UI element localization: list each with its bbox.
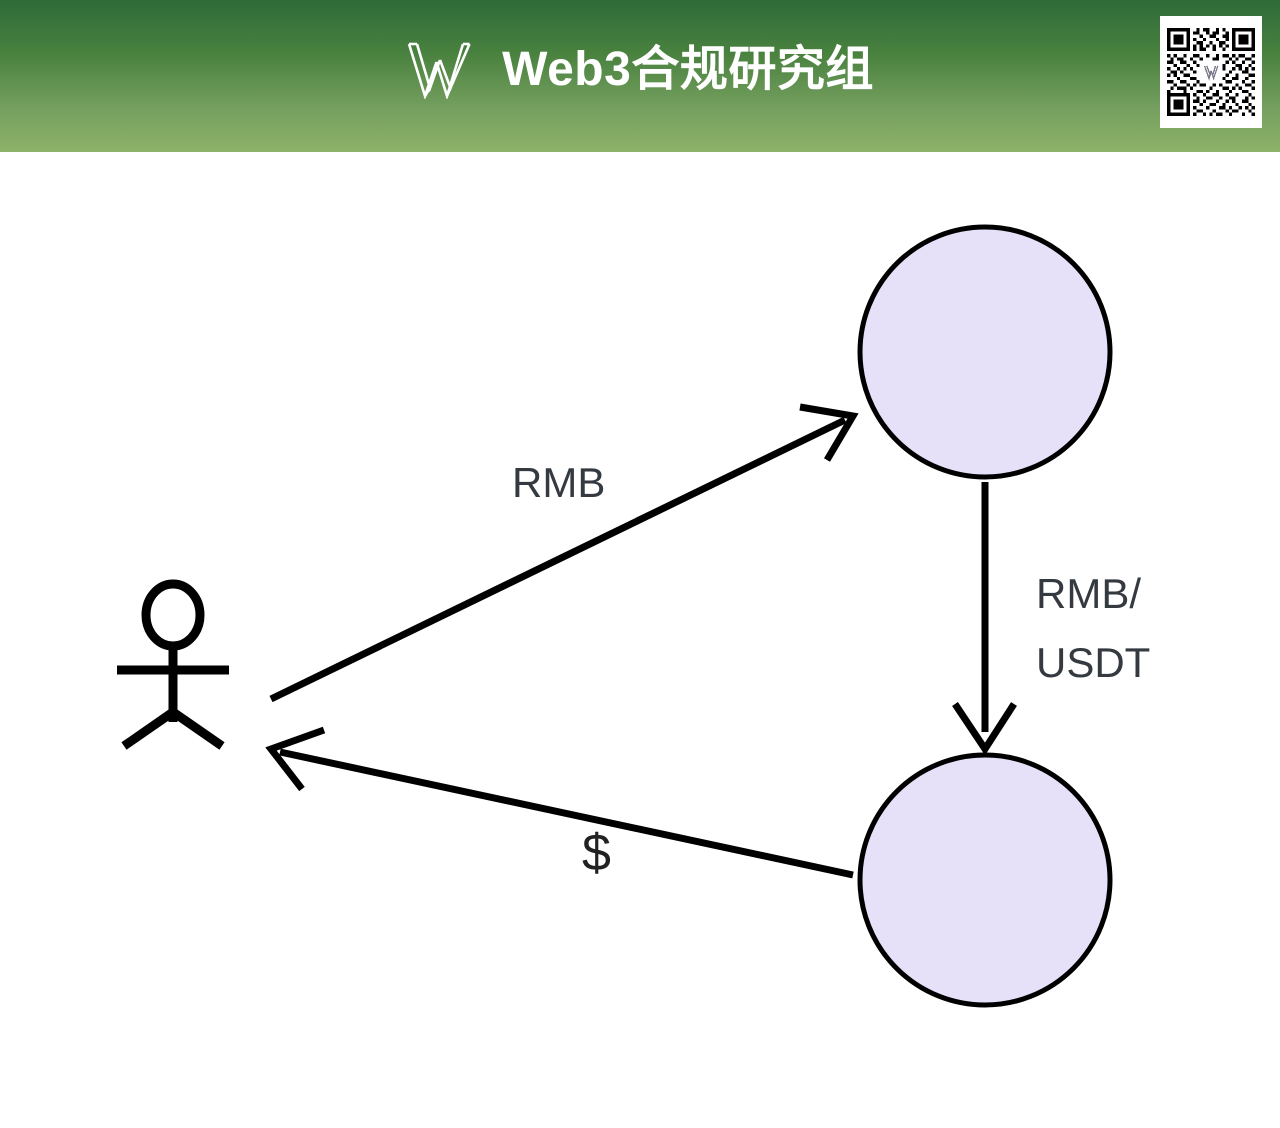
edge-top-to-bottom[interactable] (955, 482, 1014, 749)
node-top-circle[interactable] (860, 227, 1110, 477)
edge-label-rmb-usdt-line1: RMB/ (1036, 570, 1141, 617)
qr-code-icon[interactable] (1160, 16, 1262, 128)
brand-lockup: Web3合规研究组 (406, 41, 874, 99)
page-header-banner: Web3合规研究组 (0, 0, 1280, 152)
page-title: Web3合规研究组 (502, 46, 874, 94)
edge-label-rmb: RMB (512, 459, 605, 506)
edge-bottom-to-actor[interactable] (271, 730, 853, 875)
node-bottom-circle[interactable] (860, 755, 1110, 1005)
edge-label-rmb-usdt-line2: USDT (1036, 639, 1150, 686)
flow-diagram-canvas: RMB RMB/ USDT $ (0, 152, 1280, 1128)
w-monogram-icon (406, 41, 480, 99)
edge-label-dollar: $ (582, 824, 611, 882)
edge-actor-to-top[interactable] (271, 407, 853, 699)
actor-stick-figure[interactable] (117, 584, 229, 746)
